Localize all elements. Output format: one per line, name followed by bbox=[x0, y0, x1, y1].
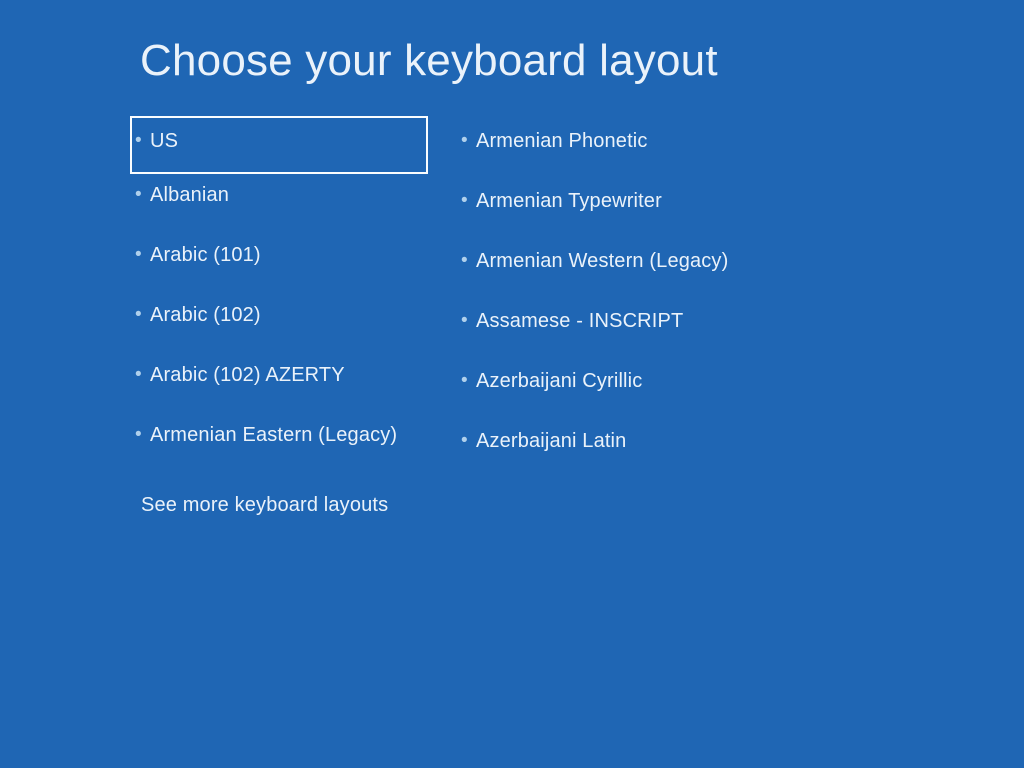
keyboard-layout-item-label: Armenian Phonetic bbox=[476, 128, 788, 154]
bullet-icon: • bbox=[458, 428, 476, 454]
keyboard-layout-item[interactable]: •Assamese - INSCRIPT bbox=[458, 298, 788, 358]
keyboard-layout-column-left: •US•Albanian•Arabic (101)•Arabic (102)•A… bbox=[132, 118, 432, 472]
bullet-icon: • bbox=[132, 362, 150, 388]
keyboard-layout-item[interactable]: •Azerbaijani Cyrillic bbox=[458, 358, 788, 418]
bullet-icon: • bbox=[458, 308, 476, 334]
keyboard-layout-item-label: Armenian Western (Legacy) bbox=[476, 248, 788, 274]
bullet-icon: • bbox=[132, 302, 150, 328]
bullet-icon: • bbox=[458, 188, 476, 214]
keyboard-layout-item[interactable]: •Armenian Phonetic bbox=[458, 118, 788, 178]
keyboard-layout-item[interactable]: •Armenian Eastern (Legacy) bbox=[132, 412, 432, 472]
keyboard-layout-item[interactable]: •Armenian Typewriter bbox=[458, 178, 788, 238]
keyboard-layout-item-label: Arabic (102) AZERTY bbox=[150, 362, 432, 388]
keyboard-layout-item[interactable]: •Arabic (101) bbox=[132, 232, 432, 292]
keyboard-layout-item-label: US bbox=[150, 128, 426, 154]
keyboard-layout-item[interactable]: •Arabic (102) AZERTY bbox=[132, 352, 432, 412]
keyboard-layout-item[interactable]: •US bbox=[132, 118, 426, 172]
keyboard-layout-screen: Choose your keyboard layout •US•Albanian… bbox=[0, 0, 1024, 768]
keyboard-layout-item[interactable]: •Arabic (102) bbox=[132, 292, 432, 352]
keyboard-layout-item[interactable]: •Albanian bbox=[132, 172, 432, 232]
bullet-icon: • bbox=[132, 182, 150, 208]
keyboard-layout-item-label: Armenian Typewriter bbox=[476, 188, 788, 214]
keyboard-layout-item-label: Armenian Eastern (Legacy) bbox=[150, 422, 432, 448]
keyboard-layout-list: •US•Albanian•Arabic (101)•Arabic (102)•A… bbox=[0, 0, 1024, 768]
keyboard-layout-column-right: •Armenian Phonetic•Armenian Typewriter•A… bbox=[458, 118, 788, 478]
bullet-icon: • bbox=[132, 242, 150, 268]
see-more-keyboard-layouts-link[interactable]: See more keyboard layouts bbox=[141, 492, 388, 518]
keyboard-layout-item-label: Arabic (102) bbox=[150, 302, 432, 328]
keyboard-layout-item[interactable]: •Azerbaijani Latin bbox=[458, 418, 788, 478]
bullet-icon: • bbox=[458, 248, 476, 274]
keyboard-layout-item-label: Albanian bbox=[150, 182, 432, 208]
keyboard-layout-item-label: Azerbaijani Latin bbox=[476, 428, 788, 454]
bullet-icon: • bbox=[458, 128, 476, 154]
keyboard-layout-item[interactable]: •Armenian Western (Legacy) bbox=[458, 238, 788, 298]
bullet-icon: • bbox=[458, 368, 476, 394]
keyboard-layout-item-label: Azerbaijani Cyrillic bbox=[476, 368, 788, 394]
keyboard-layout-item-label: Assamese - INSCRIPT bbox=[476, 308, 788, 334]
bullet-icon: • bbox=[132, 128, 150, 154]
bullet-icon: • bbox=[132, 422, 150, 448]
keyboard-layout-item-label: Arabic (101) bbox=[150, 242, 432, 268]
